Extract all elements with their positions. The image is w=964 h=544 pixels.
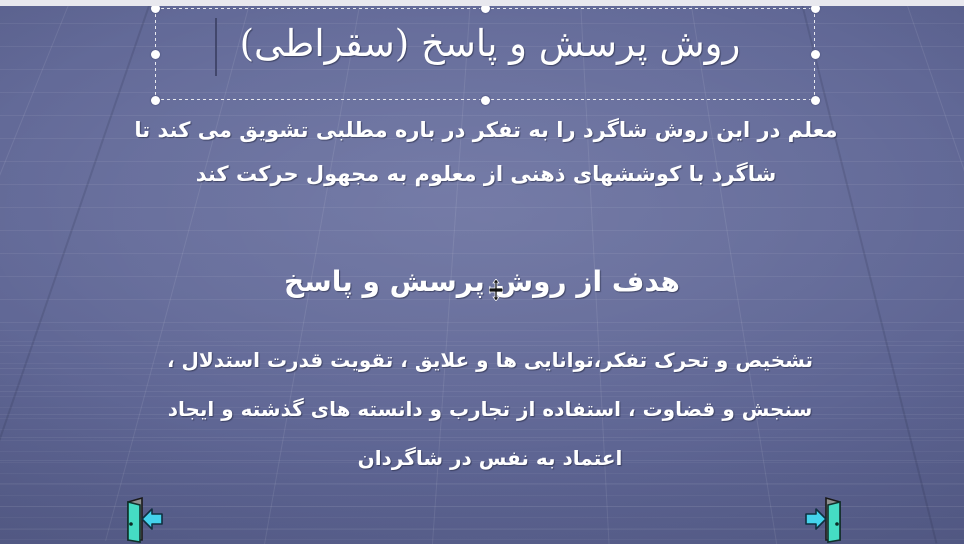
slide-body-bottom[interactable]: تشخیص و تحرک تفکر،توانایی ها و علایق ، ت…: [110, 336, 870, 483]
body-bottom-line-3: اعتماد به نفس در شاگردان: [110, 434, 870, 483]
slide-title[interactable]: روش پرسش و پاسخ (سقراطی): [160, 14, 820, 73]
nav-next-button[interactable]: [798, 496, 850, 544]
move-cursor-icon: [489, 279, 503, 301]
slide-body-top[interactable]: معلم در این روش شاگرد را به تفکر در باره…: [96, 108, 876, 196]
body-bottom-line-1: تشخیص و تحرک تفکر،توانایی ها و علایق ، ت…: [110, 336, 870, 385]
slide-canvas[interactable]: روش پرسش و پاسخ (سقراطی) معلم در این روش…: [0, 0, 964, 544]
goal-heading[interactable]: هدف از روش پرسش و پاسخ: [232, 264, 732, 300]
body-top-line-1: معلم در این روش شاگرد را به تفکر در باره…: [96, 108, 876, 152]
window-top-strip: [0, 0, 964, 6]
text-caret-icon: [215, 18, 217, 76]
body-bottom-line-2: سنجش و قضاوت ، استفاده از تجارب و دانسته…: [110, 385, 870, 434]
nav-previous-button[interactable]: [118, 496, 170, 544]
body-top-line-2: شاگرد با کوششهای ذهنی از معلوم به مجهول …: [96, 152, 876, 196]
